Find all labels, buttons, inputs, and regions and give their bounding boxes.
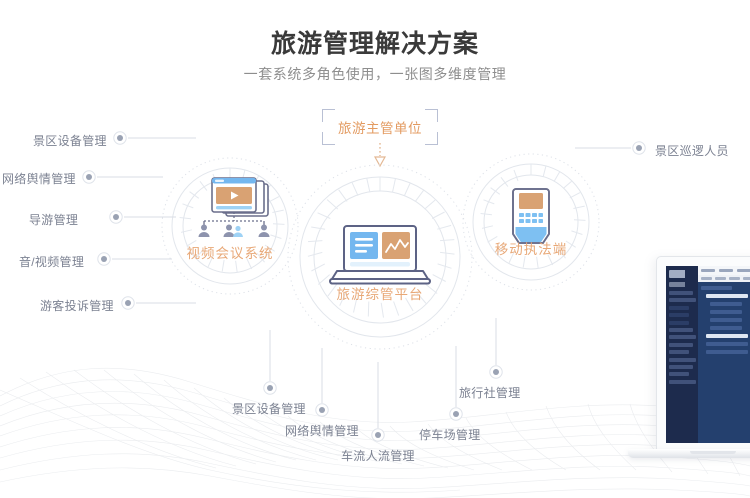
- dashboard-body: [698, 282, 750, 443]
- node-caption-video: 视频会议系统: [171, 242, 289, 262]
- dashboard-tree: [698, 282, 750, 443]
- tree-node[interactable]: [701, 286, 732, 290]
- spoke-label-bottom-scenic-equipment: 景区设备管理: [232, 400, 306, 417]
- spoke-label-bottom-travel-agency: 旅行社管理: [459, 384, 521, 401]
- spoke-label-right-patrol: 景区巡逻人员: [655, 142, 729, 159]
- connector-dot: [372, 429, 384, 441]
- tab-item[interactable]: [743, 277, 750, 280]
- authority-connector-icon: [375, 143, 385, 166]
- infographic-canvas: 旅游管理解决方案 一套系统多角色使用，一张图多维度管理 旅游主管单位: [0, 0, 750, 498]
- tab-item[interactable]: [729, 277, 740, 280]
- dashboard-menu-item[interactable]: [669, 321, 689, 325]
- dashboard-menu-item[interactable]: [669, 335, 696, 339]
- dashboard-menu-item[interactable]: [669, 380, 696, 384]
- tree-node[interactable]: [710, 318, 742, 322]
- connector-dot: [633, 142, 645, 154]
- bracket-bottom-right: [425, 132, 438, 145]
- toolbar-item[interactable]: [719, 269, 733, 272]
- node-caption-mobile: 移动执法端: [472, 238, 590, 258]
- spoke-label-bottom-traffic-flow: 车流人流管理: [341, 447, 415, 464]
- dashboard-logo: [669, 270, 695, 278]
- connector-dot: [316, 404, 328, 416]
- tree-node[interactable]: [706, 350, 748, 354]
- spoke-label-bottom-public-opinion: 网络舆情管理: [285, 422, 359, 439]
- dashboard-toolbar: [698, 266, 750, 275]
- connector-dot: [110, 211, 122, 223]
- page-subtitle: 一套系统多角色使用，一张图多维度管理: [0, 64, 750, 84]
- dashboard-logo-sub: [669, 282, 695, 287]
- authority-badge: 旅游主管单位: [330, 114, 430, 140]
- bracket-top-left: [322, 109, 335, 122]
- node-caption-platform: 旅游综管平台: [318, 283, 442, 303]
- toolbar-item[interactable]: [737, 269, 750, 272]
- dashboard-menu-item[interactable]: [669, 328, 693, 332]
- spoke-label-left-guide: 导游管理: [29, 211, 78, 228]
- page-title: 旅游管理解决方案: [0, 24, 750, 60]
- handheld-device-icon: [513, 189, 549, 243]
- spoke-label-bottom-parking: 停车场管理: [419, 426, 481, 443]
- bracket-bottom-left: [322, 132, 335, 145]
- tree-node[interactable]: [710, 302, 742, 306]
- tree-node-selected[interactable]: [706, 294, 748, 298]
- dashboard-menu-item[interactable]: [669, 372, 689, 376]
- dashboard-menu-item[interactable]: [669, 358, 696, 362]
- bracket-top-right: [425, 109, 438, 122]
- tree-node-selected[interactable]: [706, 334, 748, 338]
- connector-dot: [264, 382, 276, 394]
- tab-item[interactable]: [701, 277, 712, 280]
- connector-dot: [122, 297, 134, 309]
- toolbar-item[interactable]: [701, 269, 715, 272]
- tree-node[interactable]: [710, 326, 742, 330]
- dashboard-sidebar: [666, 266, 698, 443]
- laptop-screen: [656, 256, 750, 450]
- dashboard-menu-item[interactable]: [669, 365, 693, 369]
- dashboard-menu-item[interactable]: [669, 298, 696, 302]
- tab-item[interactable]: [715, 277, 726, 280]
- dashboard-menu-item[interactable]: [669, 343, 693, 347]
- laptop-notch: [690, 451, 736, 454]
- connector-dot: [114, 132, 126, 144]
- spoke-label-left-public-opinion: 网络舆情管理: [2, 170, 76, 187]
- dashboard-main: [698, 266, 750, 443]
- laptop-dashboard-icon: [330, 226, 430, 284]
- dashboard-menu-item[interactable]: [669, 291, 693, 295]
- tree-node[interactable]: [710, 310, 742, 314]
- connector-dot: [450, 408, 462, 420]
- dashboard-menu-item[interactable]: [669, 313, 689, 317]
- dashboard-tabs: [698, 275, 750, 282]
- connector-dot: [98, 253, 110, 265]
- left-connector-dots: [83, 132, 134, 309]
- dashboard-screenshot: [666, 266, 750, 443]
- spoke-label-left-scenic-equipment: 景区设备管理: [33, 132, 107, 149]
- connector-dot: [490, 366, 502, 378]
- spoke-label-left-av: 音/视频管理: [19, 253, 84, 270]
- dashboard-menu-item[interactable]: [669, 306, 689, 310]
- connector-dot: [83, 171, 95, 183]
- video-conference-icon: [199, 178, 270, 237]
- authority-label: 旅游主管单位: [338, 117, 422, 137]
- spoke-label-left-complaint: 游客投诉管理: [40, 297, 114, 314]
- tree-node[interactable]: [706, 342, 748, 346]
- dashboard-menu-item[interactable]: [669, 350, 689, 354]
